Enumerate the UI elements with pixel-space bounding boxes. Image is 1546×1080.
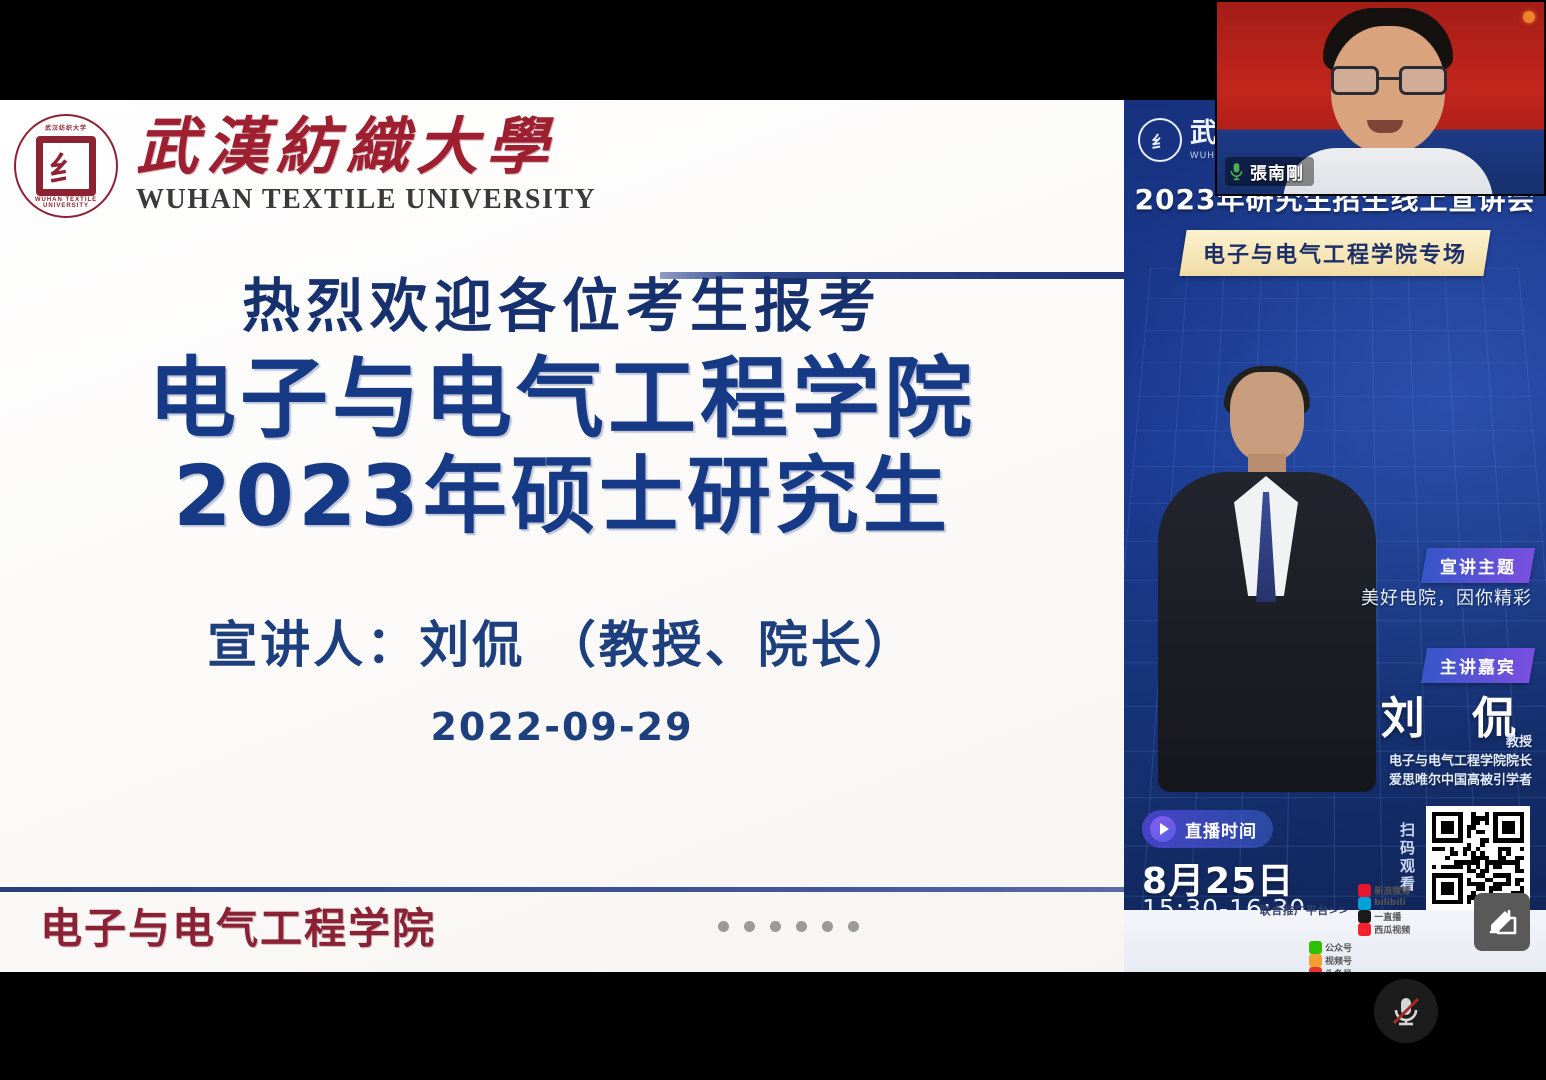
presentation-slide[interactable]: 武汉纺织大学 纟 WUHAN TEXTILE UNIVERSITY 武漢紡織大學… xyxy=(0,100,1546,972)
footer-dot xyxy=(770,921,781,932)
poster-banner-text: 电子与电气工程学院专场 xyxy=(1203,237,1467,269)
platform-logo-icon xyxy=(1309,954,1322,967)
platform-logo-icon xyxy=(1309,967,1322,973)
university-logo: 武汉纺织大学 纟 WUHAN TEXTILE UNIVERSITY 武漢紡織大學… xyxy=(14,114,596,218)
seal-arc-bottom-text: WUHAN TEXTILE UNIVERSITY xyxy=(14,197,118,209)
platform-label: 头条号 xyxy=(1325,967,1352,973)
annotate-pencil-icon xyxy=(1485,905,1519,939)
slide-year-line: 2023年硕士研究生 xyxy=(0,446,1124,547)
promo-platform-一直播: 一直播 xyxy=(1358,910,1410,923)
mute-audio-button[interactable] xyxy=(1374,979,1438,1043)
slide-welcome-line: 热烈欢迎各位考生报考 xyxy=(0,270,1124,343)
participant-name-badge: 張南剛 xyxy=(1225,157,1314,186)
footer-dot xyxy=(744,921,755,932)
participant-video-tile[interactable]: 張南剛 xyxy=(1215,0,1546,196)
microphone-icon xyxy=(1229,162,1244,181)
platform-logo-icon xyxy=(1358,884,1371,897)
footer-dot-decoration xyxy=(718,921,859,932)
annotate-button[interactable] xyxy=(1474,893,1530,951)
recording-indicator-dot xyxy=(1523,11,1535,23)
participant-name-text: 張南剛 xyxy=(1250,159,1304,184)
poster-speaker-photo xyxy=(1152,372,1382,792)
slide-college-line: 电子与电气工程学院 xyxy=(0,347,1124,451)
poster-guest-badge: 主讲嘉宾 xyxy=(1421,648,1535,683)
platform-logo-icon xyxy=(1358,923,1371,936)
slide-body: 热烈欢迎各位考生报考 电子与电气工程学院 2023年硕士研究生 宣讲人：刘侃 （… xyxy=(0,270,1124,749)
promo-lead-text: 联合推广平台>> xyxy=(1260,902,1348,918)
platform-label: 一直播 xyxy=(1374,910,1401,923)
promo-platform-头条号: 头条号 xyxy=(1309,967,1361,973)
university-seal-icon: 武汉纺织大学 纟 WUHAN TEXTILE UNIVERSITY xyxy=(14,114,118,218)
microphone-muted-icon xyxy=(1388,993,1424,1029)
poster-guest-meta: 教授 电子与电气工程学院院长 爱思唯尔中国高被引学者 xyxy=(1389,734,1532,791)
poster-topic-badge: 宣讲主题 xyxy=(1421,548,1535,583)
glasses-icon xyxy=(1331,66,1447,96)
promo-platform-西瓜视频: 西瓜视频 xyxy=(1358,923,1410,936)
promo-row-1: 联合推广平台>> 新浪微博bilibili一直播西瓜视频 xyxy=(1138,884,1532,936)
poster-banner: 电子与电气工程学院专场 xyxy=(1179,230,1490,276)
poster-guest-title: 教授 xyxy=(1389,734,1532,753)
poster-live-time-pill: 直播时间 xyxy=(1142,810,1273,848)
platform-label: bilibili xyxy=(1374,898,1405,908)
platform-logo-icon xyxy=(1358,910,1371,923)
slide-date-line: 2022-09-29 xyxy=(0,705,1124,749)
platform-label: 西瓜视频 xyxy=(1374,923,1410,936)
footer-dot xyxy=(796,921,807,932)
promo-row-2: 公众号视频号头条号百度一点资讯 xyxy=(1138,941,1532,973)
promo-platform-视频号: 视频号 xyxy=(1309,954,1361,967)
platform-logo-icon xyxy=(1358,897,1371,910)
slide-speaker-line: 宣讲人：刘侃 （教授、院长） xyxy=(0,605,1124,677)
footer-dot xyxy=(822,921,833,932)
poster-topic-text: 美好电院，因你精彩 xyxy=(1361,584,1532,610)
university-name-cn: 武漢紡織大學 xyxy=(136,116,596,181)
platform-label: 公众号 xyxy=(1325,941,1352,954)
poster-live-label: 直播时间 xyxy=(1185,817,1257,842)
slide-footer-text: 电子与电气工程学院 xyxy=(40,895,436,956)
platform-label: 视频号 xyxy=(1325,954,1352,967)
play-icon xyxy=(1150,816,1176,842)
promo-platform-bilibili: bilibili xyxy=(1358,897,1410,910)
promo-platform-公众号: 公众号 xyxy=(1309,941,1361,954)
participant-face xyxy=(1305,8,1470,196)
poster-guest-honor: 爱思唯尔中国高被引学者 xyxy=(1389,772,1532,791)
footer-dot xyxy=(718,921,729,932)
platform-label: 新浪微博 xyxy=(1374,884,1410,897)
meeting-screen-share-view: 武汉纺织大学 纟 WUHAN TEXTILE UNIVERSITY 武漢紡織大學… xyxy=(0,0,1546,1080)
promo-platform-新浪微博: 新浪微博 xyxy=(1358,884,1410,897)
university-name-en: WUHAN TEXTILE UNIVERSITY xyxy=(136,184,596,216)
footer-dot xyxy=(848,921,859,932)
poster-guest-role: 电子与电气工程学院院长 xyxy=(1389,753,1532,772)
platform-logo-icon xyxy=(1309,941,1322,954)
promotion-poster-image: 纟 武汉纺织大学 WUHAN TEXTILE UNIVERSITY “名师讲专业… xyxy=(1124,100,1546,972)
